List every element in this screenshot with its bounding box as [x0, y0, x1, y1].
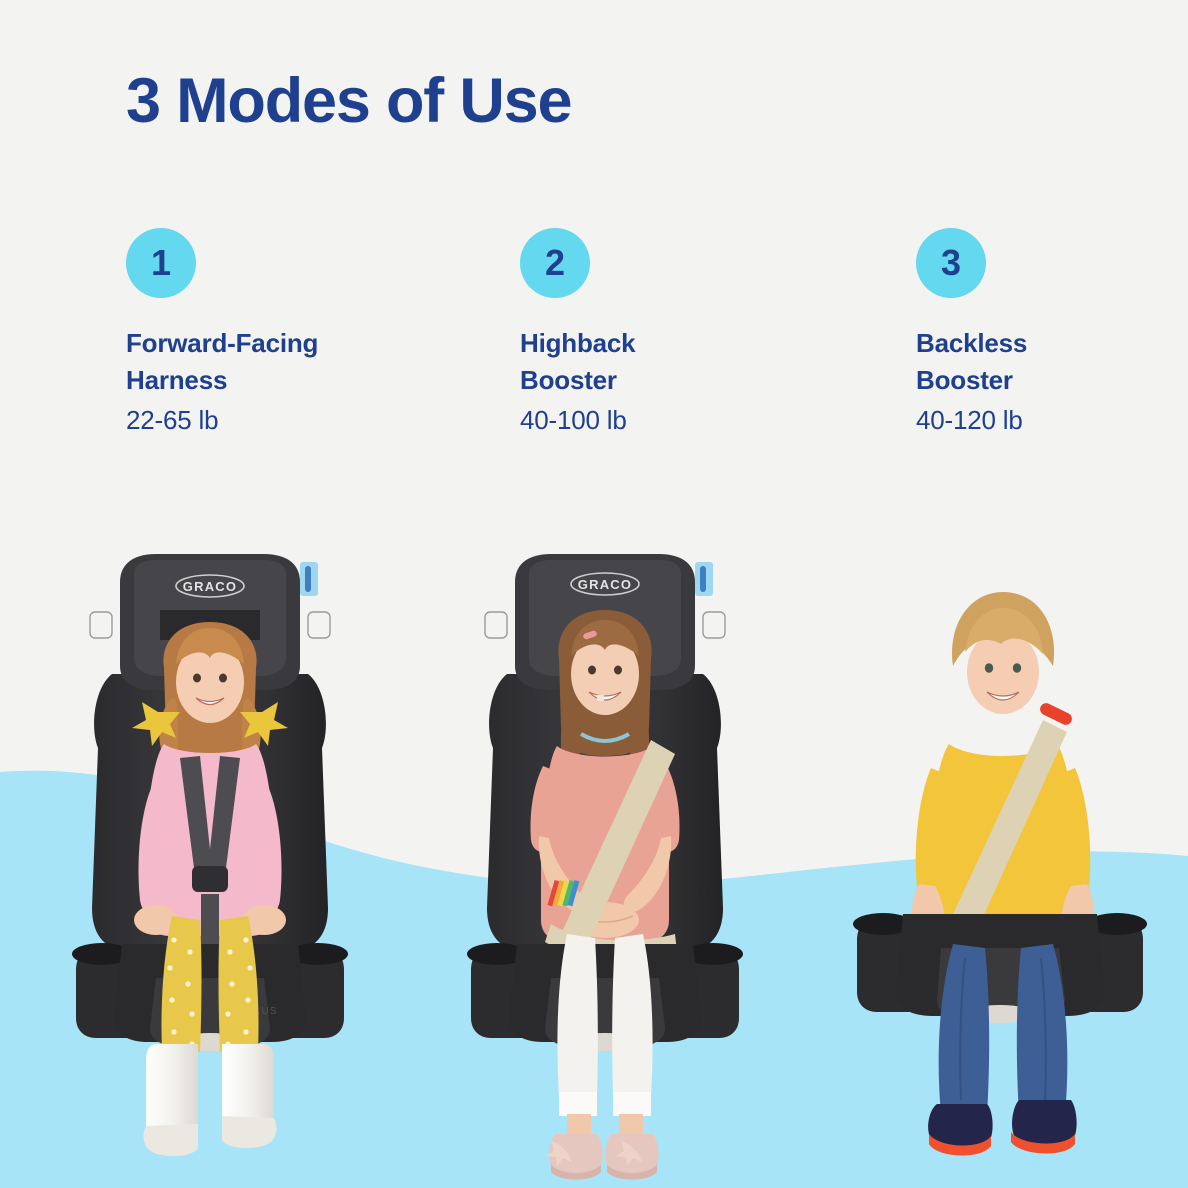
mode-badge-3: 3: [916, 228, 986, 298]
mode-label-2-line2: Booster: [520, 362, 850, 399]
svg-text:GRACO: GRACO: [183, 579, 237, 594]
mode-column-3: 3 Backless Booster 40-120 lb: [916, 228, 1188, 436]
mode-weight-1: 22-65 lb: [126, 405, 456, 436]
mode-label-3-line2: Booster: [916, 362, 1188, 399]
mode-label-2: Highback Booster: [520, 325, 850, 399]
mode-label-3-line1: Backless: [916, 325, 1188, 362]
photo-forward-facing-harness: GRACO: [60, 548, 360, 1188]
backless-booster-base-3: [853, 913, 1147, 1023]
mode-column-2: 2 Highback Booster 40-100 lb: [520, 228, 850, 436]
mode-weight-2: 40-100 lb: [520, 405, 850, 436]
mode-badge-1: 1: [126, 228, 196, 298]
mode-column-1: 1 Forward-Facing Harness 22-65 lb: [126, 228, 456, 436]
mode-label-1: Forward-Facing Harness: [126, 325, 456, 399]
child-figure-3: [912, 592, 1094, 958]
svg-text:GRACO: GRACO: [578, 577, 632, 592]
page-title: 3 Modes of Use: [126, 68, 571, 134]
mode-badge-2: 2: [520, 228, 590, 298]
photo-highback-booster: GRACO: [455, 548, 755, 1188]
mode-weight-3: 40-120 lb: [916, 405, 1188, 436]
car-seat-base-1: NAUTILUS: [72, 943, 348, 1051]
mode-label-2-line1: Highback: [520, 325, 850, 362]
mode-label-3: Backless Booster: [916, 325, 1188, 399]
infographic-poster: 3 Modes of Use 1 Forward-Facing Harness …: [0, 0, 1188, 1188]
mode-label-1-line2: Harness: [126, 362, 456, 399]
photo-backless-booster: [845, 548, 1155, 1188]
mode-label-1-line1: Forward-Facing: [126, 325, 456, 362]
car-seat-base-2: [467, 943, 743, 1051]
